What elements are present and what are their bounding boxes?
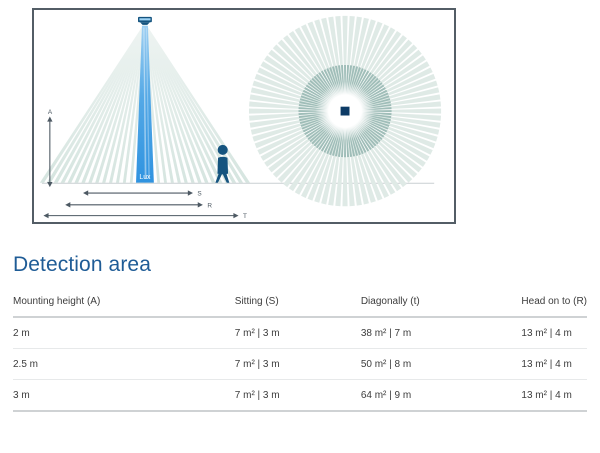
table-body: 2 m 7 m² | 3 m 38 m² | 7 m 13 m² | 4 m 2… <box>13 317 587 411</box>
cell-sitting: 7 m² | 3 m <box>235 317 361 349</box>
table-header-row: Mounting height (A) Sitting (S) Diagonal… <box>13 296 587 317</box>
top-view-group <box>249 16 441 206</box>
dimension-t-label: T <box>243 213 247 220</box>
dimension-a-label: A <box>48 109 53 116</box>
table-row: 2 m 7 m² | 3 m 38 m² | 7 m 13 m² | 4 m <box>13 317 587 349</box>
page-title: Detection area <box>13 253 151 277</box>
dimension-r-label: R <box>207 202 212 209</box>
cell-mounting-height: 2 m <box>13 317 235 349</box>
table-row: 2.5 m 7 m² | 3 m 50 m² | 8 m 13 m² | 4 m <box>13 349 587 380</box>
cell-diagonally: 64 m² | 9 m <box>361 380 522 412</box>
cell-diagonally: 38 m² | 7 m <box>361 317 522 349</box>
cell-sitting: 7 m² | 3 m <box>235 349 361 380</box>
table-row: 3 m 7 m² | 3 m 64 m² | 9 m 13 m² | 4 m <box>13 380 587 412</box>
ceiling-sensor-icon <box>138 17 152 25</box>
sensor-square-icon <box>341 107 350 116</box>
column-header-sitting: Sitting (S) <box>235 296 361 317</box>
detection-diagram-panel: Lux A <box>32 8 456 224</box>
table-head: Mounting height (A) Sitting (S) Diagonal… <box>13 296 587 317</box>
fan-ray <box>144 24 208 183</box>
cell-head-on-to: 13 m² | 4 m <box>521 380 587 412</box>
dimension-t: T <box>43 213 247 220</box>
column-header-head-on-to: Head on to (R) <box>521 296 587 317</box>
lux-label: Lux <box>139 174 151 181</box>
cell-mounting-height: 2.5 m <box>13 349 235 380</box>
cell-head-on-to: 13 m² | 4 m <box>521 349 587 380</box>
detection-area-table: Mounting height (A) Sitting (S) Diagonal… <box>13 296 587 412</box>
dimension-s: S <box>83 190 202 197</box>
cell-diagonally: 50 m² | 8 m <box>361 349 522 380</box>
column-header-diagonally: Diagonally (t) <box>361 296 522 317</box>
dimension-s-label: S <box>197 191 201 198</box>
cell-mounting-height: 3 m <box>13 380 235 412</box>
cell-head-on-to: 13 m² | 4 m <box>521 317 587 349</box>
cell-sitting: 7 m² | 3 m <box>235 380 361 412</box>
detection-diagram-svg: Lux A <box>34 10 454 222</box>
column-header-mounting-height: Mounting height (A) <box>13 296 235 317</box>
dimension-r: R <box>65 202 212 209</box>
